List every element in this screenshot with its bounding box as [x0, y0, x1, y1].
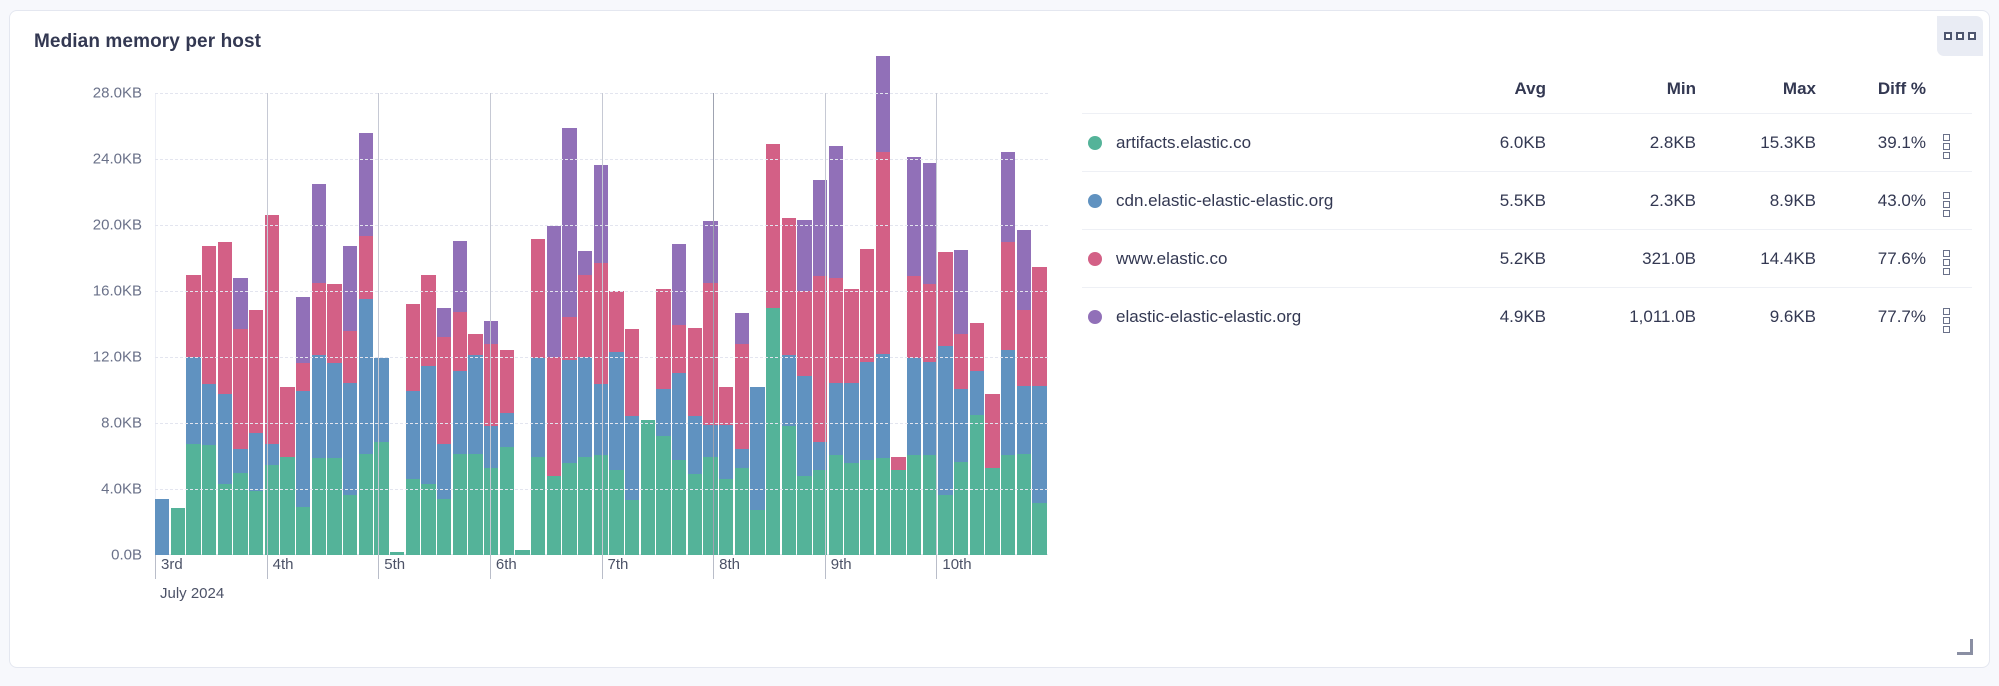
bar-segment: [891, 457, 905, 470]
bar-segment: [907, 276, 921, 358]
chart-bar[interactable]: [500, 350, 514, 555]
legend-label-text: cdn.elastic-elastic-elastic.org: [1116, 191, 1333, 210]
grid-squares-icon[interactable]: [1937, 16, 1983, 56]
chart-bar[interactable]: [280, 387, 294, 555]
chart-bar[interactable]: [1032, 267, 1046, 555]
legend-avg: 5.5KB: [1426, 172, 1546, 230]
bar-segment: [218, 394, 232, 484]
bar-segment: [233, 278, 247, 330]
bar-segment: [672, 244, 686, 325]
legend-label-text: artifacts.elastic.co: [1116, 133, 1251, 152]
bar-segment: [625, 500, 639, 555]
bar-segment: [750, 387, 764, 509]
y-axis: 28.0KB24.0KB20.0KB16.0KB12.0KB8.0KB4.0KB…: [24, 67, 150, 587]
bar-segment: [985, 468, 999, 555]
x-axis-tick-label: 5th: [378, 555, 405, 579]
bar-segment: [750, 510, 764, 555]
bar-segment: [453, 241, 467, 312]
chart-bar[interactable]: [782, 218, 796, 555]
chart-bar[interactable]: [876, 56, 890, 555]
bar-segment: [703, 283, 717, 425]
chart-bar[interactable]: [562, 128, 576, 555]
bar-segment: [468, 334, 482, 355]
x-axis: 3rdJuly 20244th5th6th7th8th9th10th: [155, 555, 1048, 625]
bar-segment: [562, 317, 576, 361]
bar-segment: [672, 460, 686, 555]
legend-diff: 43.0%: [1816, 172, 1926, 230]
bar-segment: [938, 252, 952, 345]
col-header-actions: [1926, 79, 1972, 114]
bar-segment: [954, 250, 968, 334]
bar-segment: [970, 415, 984, 555]
drag-grip-icon[interactable]: [1943, 250, 1950, 275]
dashboard-page: Median memory per host 28.0KB24.0KB20.0K…: [0, 0, 1999, 686]
bar-segment: [923, 163, 937, 284]
bar-segment: [484, 426, 498, 468]
bar-segment: [312, 184, 326, 282]
bar-segment: [547, 357, 561, 476]
x-axis-tick-label: 6th: [490, 555, 517, 579]
bar-segment: [453, 312, 467, 372]
bar-segment: [186, 444, 200, 555]
bar-segment: [437, 337, 451, 443]
chart-bar[interactable]: [719, 387, 733, 555]
bar-segment: [296, 507, 310, 555]
chart-bar[interactable]: [829, 146, 843, 555]
col-header-max[interactable]: Max: [1696, 79, 1816, 114]
bar-segment: [860, 460, 874, 555]
bar-segment: [547, 476, 561, 555]
legend-max: 9.6KB: [1696, 288, 1816, 346]
bar-segment: [735, 344, 749, 449]
plot-area[interactable]: [155, 93, 1048, 555]
legend-series-label[interactable]: cdn.elastic-elastic-elastic.org: [1082, 172, 1426, 230]
bar-segment: [703, 425, 717, 457]
bar-segment: [860, 362, 874, 460]
day-separator: [490, 93, 491, 555]
chart-bar[interactable]: [421, 275, 435, 555]
bar-segment: [578, 457, 592, 555]
day-separator: [378, 93, 379, 555]
bar-segment: [359, 133, 373, 236]
chart-bar[interactable]: [453, 241, 467, 555]
bar-segment: [703, 457, 717, 555]
legend-min: 1,011.0B: [1546, 288, 1696, 346]
day-separator: [713, 93, 714, 555]
bar-segment: [468, 454, 482, 556]
series-color-dot: [1088, 310, 1102, 324]
bar-segment: [688, 474, 702, 555]
legend-max: 15.3KB: [1696, 114, 1816, 172]
bar-segment: [453, 454, 467, 556]
bar-segment: [312, 283, 326, 356]
bar-segment: [1001, 455, 1015, 555]
legend-series-label[interactable]: www.elastic.co: [1082, 230, 1426, 288]
bar-segment: [218, 242, 232, 393]
bar-segment: [797, 220, 811, 291]
chart-bar[interactable]: [985, 394, 999, 555]
legend-row-actions[interactable]: [1926, 288, 1972, 346]
legend-avg: 5.2KB: [1426, 230, 1546, 288]
col-header-diff[interactable]: Diff %: [1816, 79, 1926, 114]
bar-segment: [186, 357, 200, 444]
bar-segment: [797, 476, 811, 555]
bar-segment: [844, 463, 858, 555]
chart-bar[interactable]: [938, 252, 952, 555]
bar-segment: [829, 278, 843, 383]
chart-bar[interactable]: [1017, 230, 1031, 555]
bar-segment: [421, 275, 435, 367]
chart-bar[interactable]: [343, 246, 357, 555]
bar-segment: [782, 426, 796, 555]
resize-corner-icon[interactable]: [1957, 639, 1973, 655]
bar-segment: [296, 363, 310, 390]
bar-segment: [406, 391, 420, 480]
bar-segment: [202, 445, 216, 555]
bar-segment: [359, 454, 373, 556]
bar-segment: [327, 284, 341, 363]
bar-segment: [249, 310, 263, 432]
bar-chart: 28.0KB24.0KB20.0KB16.0KB12.0KB8.0KB4.0KB…: [24, 67, 1069, 647]
bar-segment: [641, 420, 655, 555]
square-glyph-2: [1956, 32, 1964, 40]
bar-segment: [876, 56, 890, 153]
bar-segment: [406, 304, 420, 391]
legend-table-wrap: Avg Min Max Diff % artifacts.elastic.co6…: [1082, 79, 1972, 345]
bar-segment: [233, 449, 247, 473]
chart-bar[interactable]: [688, 328, 702, 555]
bar-segment: [782, 355, 796, 426]
chart-bar[interactable]: [202, 246, 216, 555]
chart-bar[interactable]: [296, 297, 310, 555]
drag-grip-icon[interactable]: [1943, 308, 1950, 333]
y-axis-tick-label: 12.0KB: [93, 349, 142, 366]
chart-bar[interactable]: [186, 275, 200, 555]
bar-segment: [531, 358, 545, 456]
chart-bar[interactable]: [1001, 152, 1015, 555]
chart-bar[interactable]: [578, 251, 592, 556]
chart-bar[interactable]: [406, 304, 420, 555]
legend-series-label[interactable]: elastic-elastic-elastic.org: [1082, 288, 1426, 346]
bar-segment: [766, 308, 780, 555]
chart-bar[interactable]: [468, 334, 482, 555]
bar-segment: [578, 275, 592, 357]
bar-segment: [891, 470, 905, 555]
chart-bar[interactable]: [155, 499, 169, 555]
chart-bar[interactable]: [547, 226, 561, 555]
bar-segment: [735, 313, 749, 344]
bar-segment: [359, 299, 373, 454]
bar-segment: [782, 218, 796, 355]
chart-bar[interactable]: [923, 163, 937, 555]
day-separator: [267, 93, 268, 555]
legend-body: artifacts.elastic.co6.0KB2.8KB15.3KB39.1…: [1082, 114, 1972, 346]
bar-segment: [327, 363, 341, 458]
y-axis-tick-label: 20.0KB: [93, 217, 142, 234]
bar-segment: [970, 371, 984, 415]
chart-bar[interactable]: [171, 508, 185, 555]
bar-segment: [703, 221, 717, 282]
bar-segment: [1017, 454, 1031, 556]
bar-segment: [578, 251, 592, 275]
chart-bar[interactable]: [891, 457, 905, 555]
legend-min: 321.0B: [1546, 230, 1696, 288]
bar-segment: [797, 376, 811, 476]
chart-bar[interactable]: [735, 313, 749, 555]
bar-segment: [468, 355, 482, 453]
x-axis-period-label: July 2024: [160, 585, 224, 602]
bar-segment: [343, 383, 357, 496]
legend-max: 14.4KB: [1696, 230, 1816, 288]
legend-series-label[interactable]: artifacts.elastic.co: [1082, 114, 1426, 172]
bar-segment: [719, 387, 733, 424]
day-separator: [602, 93, 603, 555]
bar-segment: [437, 308, 451, 337]
bar-segment: [374, 442, 388, 555]
col-header-label: [1082, 79, 1426, 114]
x-axis-tick-label: 8th: [713, 555, 740, 579]
bar-segment: [938, 495, 952, 555]
col-header-avg[interactable]: Avg: [1426, 79, 1546, 114]
bar-segment: [218, 484, 232, 555]
bar-segment: [562, 463, 576, 555]
bar-segment: [719, 425, 733, 480]
bar-segment: [202, 246, 216, 385]
legend-diff: 77.6%: [1816, 230, 1926, 288]
bar-segment: [907, 455, 921, 555]
day-separator: [936, 93, 937, 555]
legend-max: 8.9KB: [1696, 172, 1816, 230]
bar-segment: [688, 416, 702, 474]
bar-segment: [437, 444, 451, 499]
bar-segment: [735, 468, 749, 555]
legend-diff: 39.1%: [1816, 114, 1926, 172]
bar-segment: [829, 146, 843, 278]
bar-segment: [327, 458, 341, 555]
bar-segment: [1001, 350, 1015, 455]
legend-row[interactable]: elastic-elastic-elastic.org4.9KB1,011.0B…: [1082, 288, 1972, 346]
bar-segment: [923, 455, 937, 555]
x-axis-tick-label: 10th: [936, 555, 971, 579]
chart-bar[interactable]: [374, 358, 388, 555]
bar-segment: [249, 433, 263, 491]
panel-header: Median memory per host: [10, 11, 1989, 63]
bar-segment: [171, 508, 185, 555]
legend-min: 2.8KB: [1546, 114, 1696, 172]
chart-bar[interactable]: [797, 220, 811, 555]
y-axis-tick-label: 0.0B: [111, 547, 142, 564]
legend-row-actions[interactable]: [1926, 114, 1972, 172]
legend-label-text: www.elastic.co: [1116, 249, 1227, 268]
drag-grip-icon[interactable]: [1943, 192, 1950, 217]
legend-avg: 4.9KB: [1426, 288, 1546, 346]
bar-segment: [970, 323, 984, 371]
bar-segment: [484, 468, 498, 555]
bar-segment: [453, 371, 467, 453]
chart-panel: Median memory per host 28.0KB24.0KB20.0K…: [9, 10, 1990, 668]
bar-segment: [656, 389, 670, 436]
chart-bar[interactable]: [641, 420, 655, 555]
chart-bar[interactable]: [766, 144, 780, 555]
bar-segment: [829, 455, 843, 555]
series-color-dot: [1088, 194, 1102, 208]
bar-segment: [797, 291, 811, 376]
chart-bar[interactable]: [750, 387, 764, 555]
chart-bar[interactable]: [312, 184, 326, 555]
chart-bar[interactable]: [218, 242, 232, 555]
bar-segment: [562, 360, 576, 463]
chart-bar[interactable]: [327, 284, 341, 555]
bar-segment: [562, 128, 576, 317]
bar-segment: [500, 413, 514, 447]
bar-segment: [233, 473, 247, 555]
y-axis-tick-label: 24.0KB: [93, 151, 142, 168]
y-axis-tick-label: 4.0KB: [101, 481, 142, 498]
bar-segment: [500, 447, 514, 555]
x-axis-tick-label: 7th: [602, 555, 629, 579]
legend-header-row: Avg Min Max Diff %: [1082, 79, 1972, 114]
page-title: Median memory per host: [34, 31, 261, 53]
bar-segment: [359, 236, 373, 299]
bar-segment: [656, 436, 670, 555]
bar-segment: [280, 457, 294, 555]
legend-row[interactable]: cdn.elastic-elastic-elastic.org5.5KB2.3K…: [1082, 172, 1972, 230]
legend-row-actions[interactable]: [1926, 230, 1972, 288]
bar-segment: [374, 358, 388, 442]
bar-segment: [954, 334, 968, 389]
bar-segment: [484, 321, 498, 344]
chart-bar[interactable]: [954, 250, 968, 555]
chart-bar[interactable]: [860, 249, 874, 555]
x-axis-tick-label: 3rd: [155, 555, 183, 579]
bar-segment: [876, 354, 890, 459]
bar-segment: [406, 479, 420, 555]
bar-segment: [609, 352, 623, 470]
bar-segment: [954, 389, 968, 462]
legend-row[interactable]: artifacts.elastic.co6.0KB2.8KB15.3KB39.1…: [1082, 114, 1972, 172]
bar-segment: [186, 275, 200, 357]
bar-segment: [421, 484, 435, 555]
bar-segment: [202, 384, 216, 445]
bar-segment: [876, 458, 890, 555]
chart-bar[interactable]: [625, 329, 639, 555]
bar-segment: [609, 470, 623, 555]
bar-segment: [844, 289, 858, 382]
bar-segment: [155, 499, 169, 555]
bar-segment: [1032, 267, 1046, 386]
chart-bar[interactable]: [233, 278, 247, 555]
y-axis-tick-label: 16.0KB: [93, 283, 142, 300]
legend-avg: 6.0KB: [1426, 114, 1546, 172]
legend-min: 2.3KB: [1546, 172, 1696, 230]
legend-diff: 77.7%: [1816, 288, 1926, 346]
legend-head: Avg Min Max Diff %: [1082, 79, 1972, 114]
legend-row-actions[interactable]: [1926, 172, 1972, 230]
bar-segment: [1017, 310, 1031, 386]
chart-bar[interactable]: [531, 239, 545, 555]
bar-segment: [923, 284, 937, 361]
bar-segment: [829, 383, 843, 456]
bar-segment: [1017, 386, 1031, 454]
bar-segment: [531, 457, 545, 555]
x-axis-tick-label: 4th: [267, 555, 294, 579]
bar-segment: [719, 479, 733, 555]
bar-segment: [312, 458, 326, 555]
series-color-dot: [1088, 136, 1102, 150]
series-color-dot: [1088, 252, 1102, 266]
bar-segment: [343, 246, 357, 331]
bar-segment: [531, 239, 545, 358]
bar-segment: [985, 394, 999, 468]
bar-segment: [907, 358, 921, 455]
bar-segment: [625, 416, 639, 500]
bar-segment: [1017, 230, 1031, 311]
square-glyph-3: [1968, 32, 1976, 40]
y-axis-tick-label: 28.0KB: [93, 85, 142, 102]
bar-segment: [938, 346, 952, 496]
bar-segment: [954, 462, 968, 555]
y-axis-tick-label: 8.0KB: [101, 415, 142, 432]
bar-segment: [672, 325, 686, 373]
x-axis-tick-label: 9th: [825, 555, 852, 579]
day-separator: [825, 93, 826, 555]
chart-bar[interactable]: [359, 133, 373, 555]
bar-segment: [766, 144, 780, 308]
bar-segment: [343, 495, 357, 555]
legend-label-text: elastic-elastic-elastic.org: [1116, 307, 1301, 326]
bar-segment: [688, 328, 702, 417]
bar-segment: [876, 152, 890, 353]
bar-segment: [1032, 503, 1046, 555]
bar-segment: [249, 491, 263, 555]
bar-segment: [1001, 152, 1015, 242]
col-header-min[interactable]: Min: [1546, 79, 1696, 114]
chart-bar[interactable]: [437, 308, 451, 555]
square-glyph-1: [1944, 32, 1952, 40]
bar-segment: [500, 350, 514, 413]
chart-bar[interactable]: [703, 221, 717, 555]
bar-segment: [437, 499, 451, 555]
bar-segment: [1032, 386, 1046, 504]
bar-segment: [860, 249, 874, 362]
bar-segment: [625, 329, 639, 416]
bar-segment: [296, 297, 310, 363]
bar-segment: [923, 362, 937, 455]
chart-bar[interactable]: [249, 310, 263, 555]
legend-row[interactable]: www.elastic.co5.2KB321.0B14.4KB77.6%: [1082, 230, 1972, 288]
bar-segment: [907, 157, 921, 276]
bar-segment: [578, 357, 592, 457]
bar-segment: [421, 366, 435, 484]
bar-segment: [656, 289, 670, 389]
drag-grip-icon[interactable]: [1943, 134, 1950, 159]
bar-segment: [233, 329, 247, 448]
bar-segment: [735, 449, 749, 468]
legend-table: Avg Min Max Diff % artifacts.elastic.co6…: [1082, 79, 1972, 345]
bar-segment: [672, 373, 686, 460]
bar-segment: [312, 355, 326, 458]
bar-segment: [609, 291, 623, 352]
bar-segment: [1001, 242, 1015, 350]
